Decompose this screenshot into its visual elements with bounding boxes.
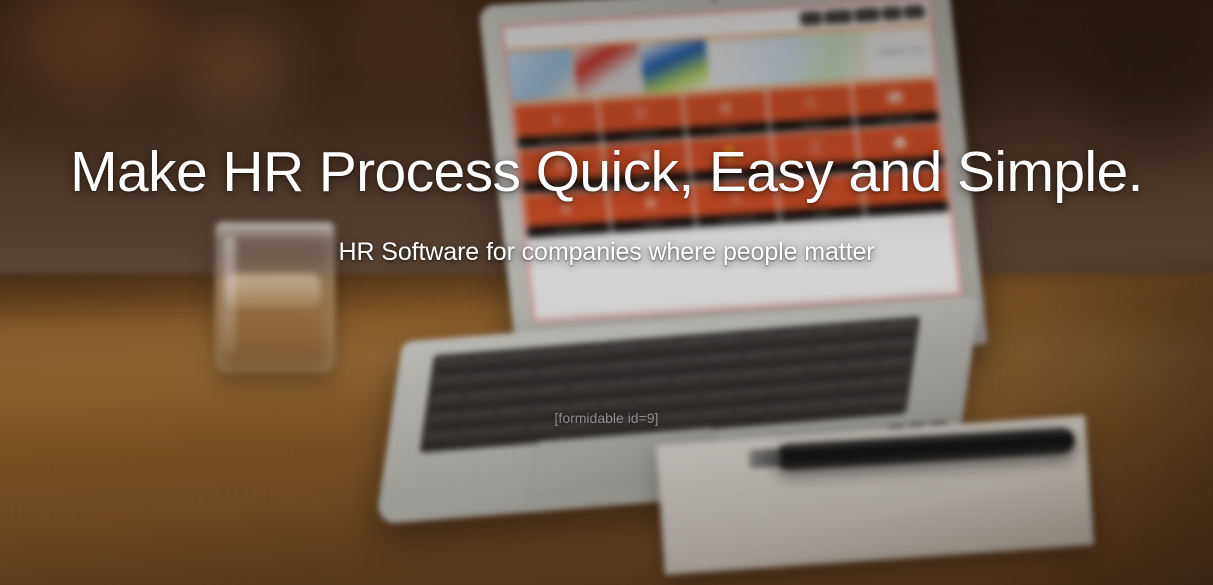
hero-subheadline: HR Software for companies where people m… (0, 238, 1213, 267)
hero-content: Make HR Process Quick, Easy and Simple. … (0, 0, 1213, 585)
hero-banner: Home Modules Reports Help Login COMPANY … (0, 0, 1213, 585)
hero-headline: Make HR Process Quick, Easy and Simple. (0, 142, 1213, 204)
form-shortcode-placeholder: [formidable id=9] (0, 410, 1213, 426)
